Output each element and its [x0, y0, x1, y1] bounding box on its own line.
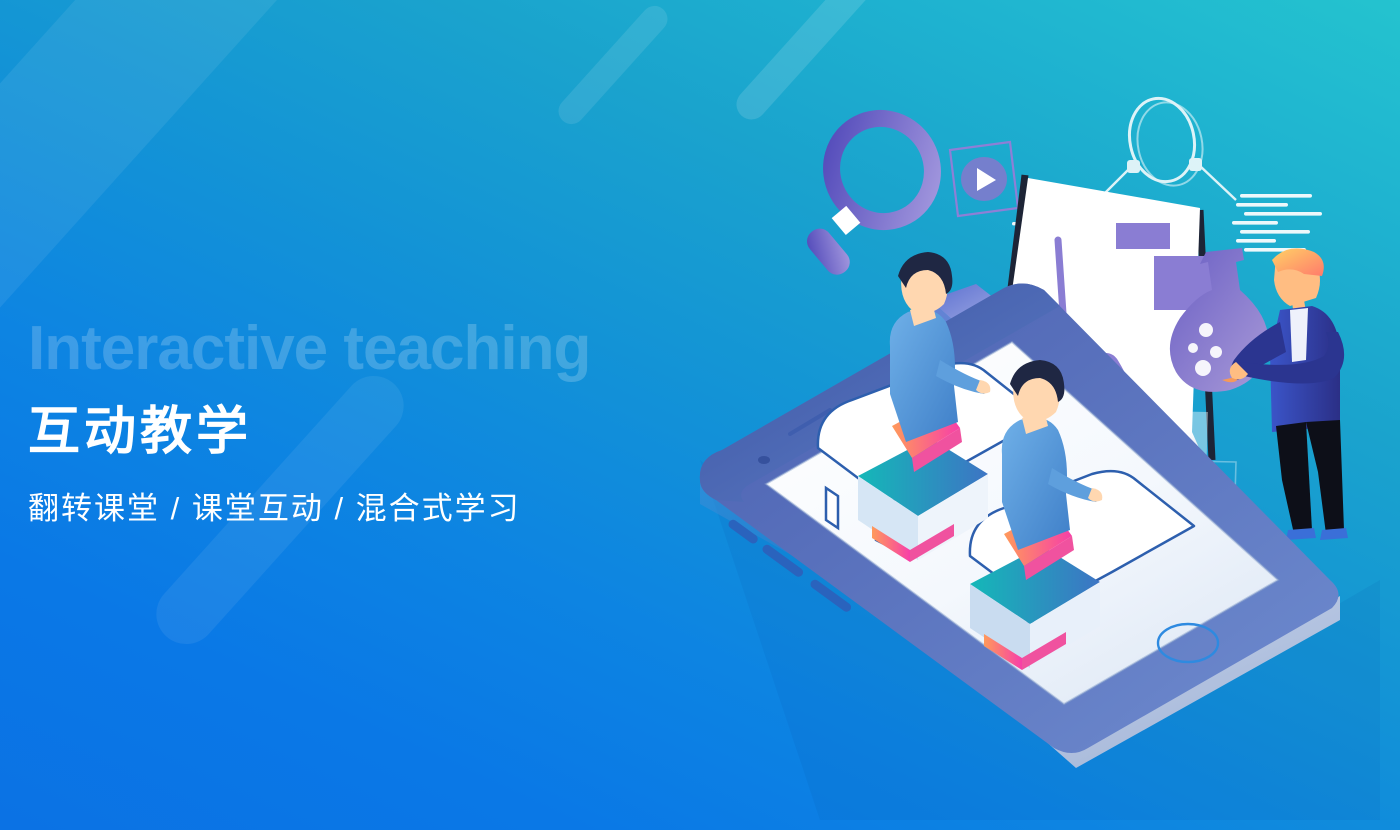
illustration-group: [640, 60, 1380, 820]
text-lines-right: [1232, 194, 1322, 252]
banner-root: Interactive teaching 互动教学 翻转课堂 / 课堂互动 / …: [0, 0, 1400, 830]
video-play-frame-icon: [950, 142, 1018, 216]
ring-diagram: [1092, 92, 1236, 206]
